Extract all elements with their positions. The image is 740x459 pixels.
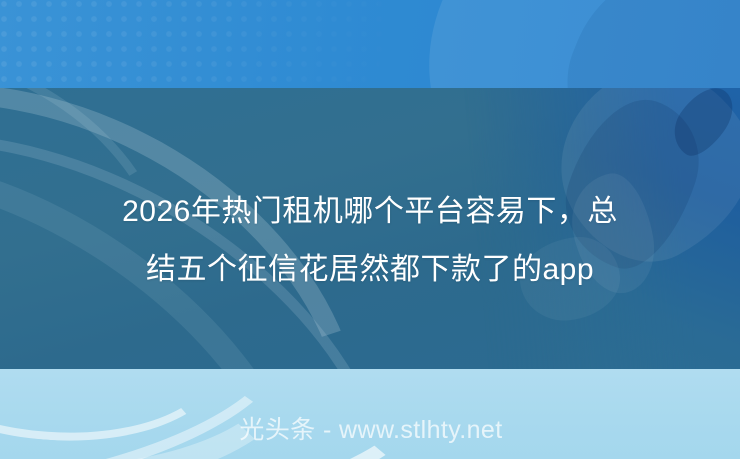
banner-headline: 2026年热门租机哪个平台容易下，总 结五个征信花居然都下款了的app [0, 183, 740, 299]
top-color-band [0, 0, 740, 88]
dot-grid-pattern-icon [0, 0, 430, 88]
promo-banner: 2026年热门租机哪个平台容易下，总 结五个征信花居然都下款了的app 光头条 … [0, 0, 740, 459]
bottom-color-band [0, 369, 740, 459]
